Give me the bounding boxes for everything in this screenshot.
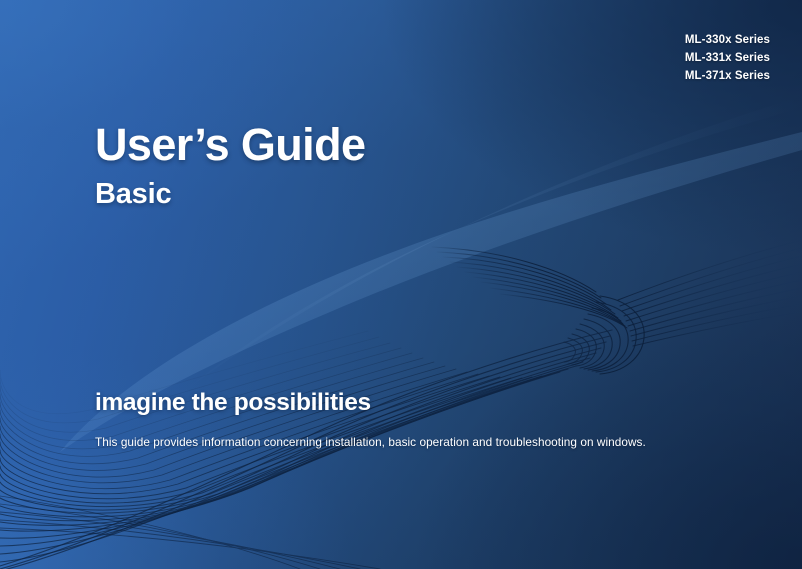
model-series-item: ML-330x Series: [685, 31, 770, 49]
page-subtitle: Basic: [95, 177, 365, 211]
model-series-list: ML-330x Series ML-331x Series ML-371x Se…: [685, 31, 770, 85]
wave-line-ribbon-icon: [0, 0, 802, 569]
model-series-item: ML-331x Series: [685, 49, 770, 67]
brand-tagline: imagine the possibilities: [95, 389, 371, 417]
title-block: User’s Guide Basic: [95, 119, 365, 211]
cover-description: This guide provides information concerni…: [95, 434, 685, 450]
page-title: User’s Guide: [95, 119, 365, 171]
model-series-item: ML-371x Series: [685, 67, 770, 85]
document-cover: ML-330x Series ML-331x Series ML-371x Se…: [0, 0, 802, 569]
